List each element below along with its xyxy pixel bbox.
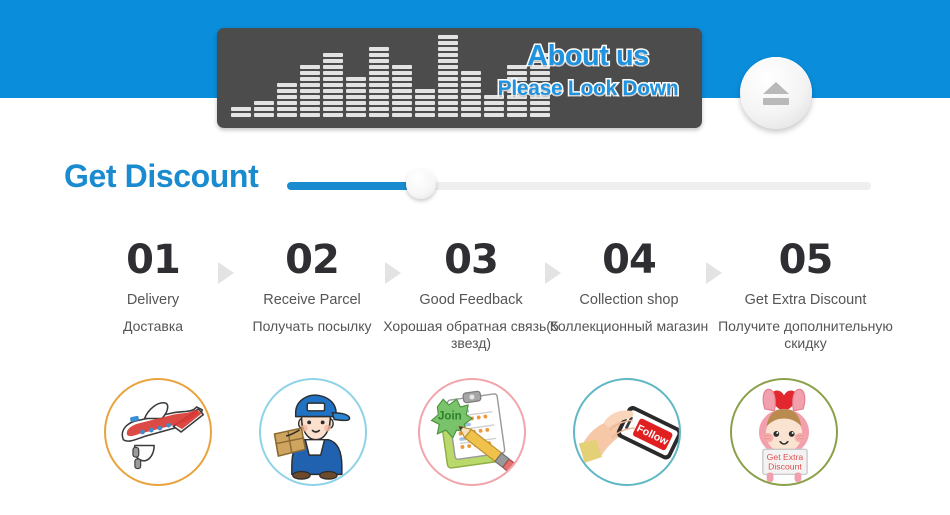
equalizer-bar xyxy=(369,47,389,117)
equalizer-bar xyxy=(392,65,412,117)
steps-row: 01DeliveryДоставка02Receive ParcelПолуча… xyxy=(0,240,950,370)
icon-item-5[interactable]: Get Extra Discount xyxy=(724,372,848,496)
join-badge-label: Join xyxy=(438,410,462,422)
icon-item-4[interactable]: Follow xyxy=(567,372,691,496)
equalizer-bar xyxy=(277,83,297,117)
step-number: 05 xyxy=(698,240,913,280)
follow-phone-icon: Follow xyxy=(573,378,681,486)
equalizer-bar xyxy=(323,53,343,117)
icon-item-1[interactable] xyxy=(98,372,222,496)
step-arrow-icon xyxy=(218,262,234,284)
extra-discount-character-icon: Get Extra Discount xyxy=(730,378,838,486)
sign-line-2: Discount xyxy=(768,462,802,472)
icon-item-2[interactable] xyxy=(253,372,377,496)
delivery-man-icon xyxy=(259,378,367,486)
eject-icon xyxy=(763,82,789,105)
eject-button[interactable] xyxy=(740,57,812,129)
get-discount-row: Get Discount xyxy=(0,158,950,214)
about-us-banner: About us Please Look Down xyxy=(217,28,702,128)
equalizer-bar xyxy=(300,65,320,117)
banner-subtitle: Please Look Down xyxy=(482,78,694,99)
equalizer-bar xyxy=(438,35,458,117)
feedback-clipboard-icon: Join xyxy=(418,378,526,486)
slider-fill xyxy=(287,182,421,190)
equalizer-bar xyxy=(346,77,366,117)
equalizer-bar xyxy=(415,89,435,117)
step-arrow-icon xyxy=(385,262,401,284)
airplane-icon xyxy=(104,378,212,486)
icons-row: Join xyxy=(0,372,950,500)
step-label-ru: Получите дополнительную скидку xyxy=(698,318,913,353)
sign-line-1: Get Extra xyxy=(767,452,804,462)
banner-text-block: About us Please Look Down xyxy=(482,42,694,99)
get-discount-title: Get Discount xyxy=(64,158,258,195)
step-item-04: 04Collection shopКоллекционный магазин xyxy=(534,240,724,335)
step-number: 04 xyxy=(534,240,724,280)
step-arrow-icon xyxy=(706,262,722,284)
step-label-en: Collection shop xyxy=(534,292,724,309)
equalizer-bar xyxy=(461,71,481,117)
equalizer-bar xyxy=(231,107,251,117)
step-label-ru: Коллекционный магазин xyxy=(534,318,724,336)
step-arrow-icon xyxy=(545,262,561,284)
banner-title: About us xyxy=(482,42,694,71)
promo-banner-page: About us Please Look Down Get Discount 0… xyxy=(0,0,950,515)
step-item-05: 05Get Extra DiscountПолучите дополнитель… xyxy=(698,240,913,353)
equalizer-bar xyxy=(254,101,274,117)
slider-knob[interactable] xyxy=(406,169,436,199)
discount-slider[interactable] xyxy=(287,178,871,192)
step-label-en: Get Extra Discount xyxy=(698,292,913,309)
icon-item-3[interactable]: Join xyxy=(412,372,536,496)
